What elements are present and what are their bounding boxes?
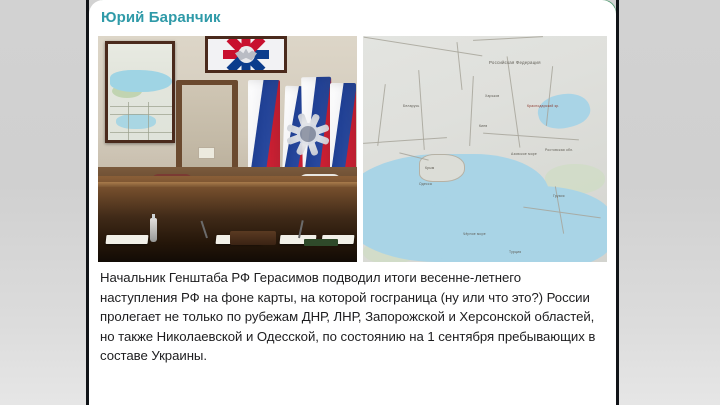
map-label: Турция bbox=[509, 250, 521, 254]
map-border-line bbox=[483, 133, 579, 141]
conference-table bbox=[98, 176, 357, 262]
emblem-core bbox=[300, 126, 316, 142]
desk-nameplate bbox=[304, 239, 338, 246]
wall-map-gridline bbox=[148, 102, 149, 140]
map-label: Грузия bbox=[553, 194, 565, 198]
map-label: Российская Федерация bbox=[489, 60, 541, 65]
caption-text: Начальник Генштаба РФ Герасимов подводил… bbox=[100, 268, 602, 366]
map-label: Чёрное море bbox=[463, 232, 486, 236]
map-label: Ростовская обл. bbox=[545, 148, 573, 152]
map-border-line bbox=[377, 84, 386, 146]
map-label: Краснодарский кр. bbox=[527, 104, 560, 108]
wall-map-gridline bbox=[110, 132, 172, 133]
table-edge bbox=[98, 182, 357, 187]
water-bottle bbox=[150, 218, 157, 242]
wall-map-gridline bbox=[128, 102, 129, 140]
card-right-border bbox=[616, 0, 619, 405]
card-left-border bbox=[86, 0, 89, 405]
document-folder bbox=[230, 231, 276, 245]
briefing-room-photo[interactable] bbox=[98, 36, 357, 262]
map-label: Крым bbox=[425, 166, 434, 170]
media-strip: Беларусь Российская Федерация Киев Харьк… bbox=[98, 36, 607, 262]
screenshot-stage: Юрий Баранчик bbox=[0, 0, 720, 405]
room-scene bbox=[98, 36, 357, 262]
wall-map-sea bbox=[110, 70, 172, 92]
map-label: Азовское море bbox=[511, 152, 537, 156]
map-border-line bbox=[456, 42, 462, 90]
map-border-line bbox=[363, 137, 447, 144]
map-label: Беларусь bbox=[403, 104, 419, 108]
post-caption: Начальник Генштаба РФ Герасимов подводил… bbox=[100, 268, 602, 366]
map-label: Киев bbox=[479, 124, 487, 128]
wall-map-gridline bbox=[110, 114, 172, 115]
channel-name[interactable]: Юрий Баранчик bbox=[101, 9, 616, 27]
telegram-post-card: Юрий Баранчик bbox=[89, 0, 616, 405]
wall-map-photo[interactable]: Беларусь Российская Федерация Киев Харьк… bbox=[363, 36, 607, 262]
wall-map-inner bbox=[108, 44, 172, 140]
post-header: Юрий Баранчик bbox=[89, 0, 616, 36]
papers bbox=[106, 235, 149, 244]
door-sign bbox=[198, 147, 215, 159]
framed-wall-map bbox=[105, 41, 175, 143]
sea-of-azov bbox=[535, 88, 594, 134]
flag-emblem-icon bbox=[284, 110, 332, 158]
wall-map-gridline bbox=[110, 106, 172, 107]
map-label: Харьков bbox=[485, 94, 499, 98]
ministry-emblem-frame bbox=[205, 36, 287, 73]
wall-map-sea-lower bbox=[116, 114, 156, 129]
printed-map: Беларусь Российская Федерация Киев Харьк… bbox=[363, 36, 607, 262]
ministry-emblem bbox=[208, 39, 284, 70]
map-label: Одесса bbox=[419, 182, 432, 186]
map-border-line bbox=[364, 37, 483, 57]
map-border-line bbox=[469, 76, 474, 146]
map-border-line bbox=[473, 36, 543, 41]
